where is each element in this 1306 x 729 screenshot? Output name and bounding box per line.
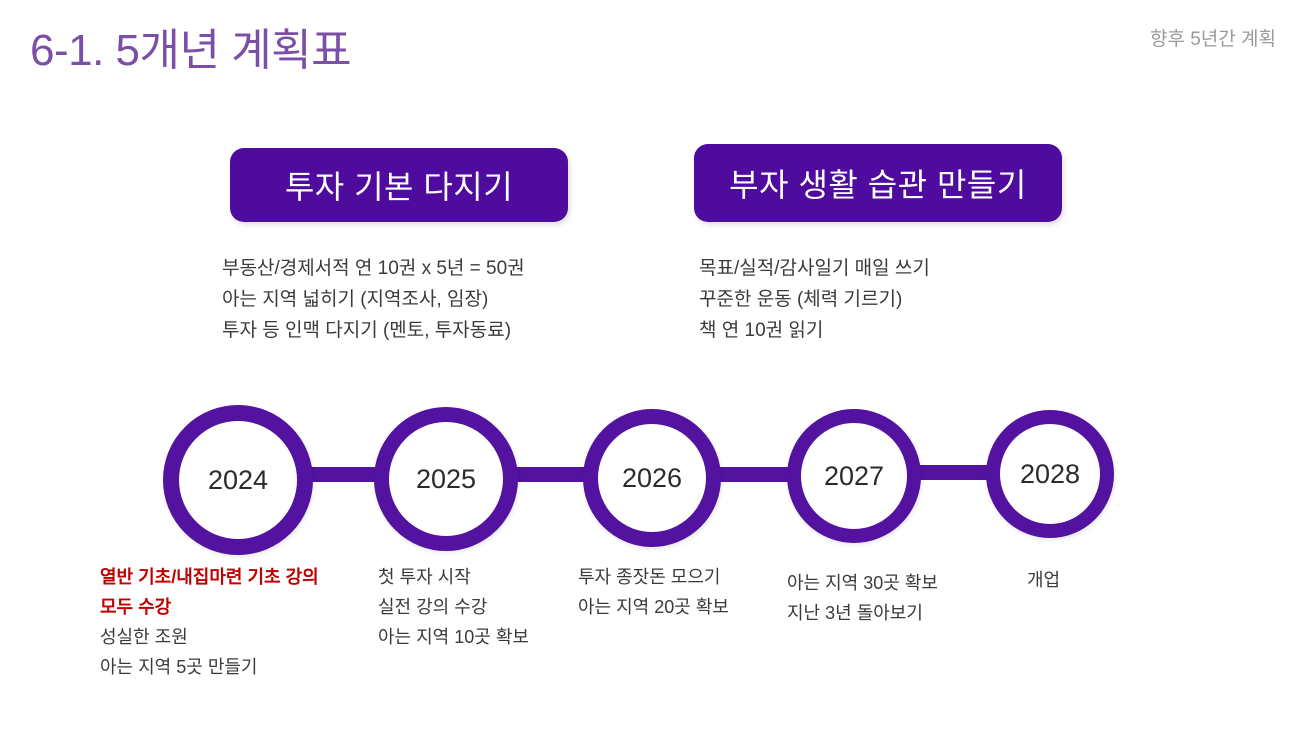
bullet-line: 아는 지역 넓히기 (지역조사, 임장) bbox=[222, 284, 525, 315]
bullet-line: 책 연 10권 읽기 bbox=[699, 315, 930, 346]
slide-canvas: 6-1. 5개년 계획표 향후 5년간 계획 투자 기본 다지기 부자 생활 습… bbox=[0, 0, 1306, 729]
section-heading-pill-1: 투자 기본 다지기 bbox=[230, 148, 568, 222]
caption-line: 지난 3년 돌아보기 bbox=[787, 598, 938, 628]
caption-line: 개업 bbox=[1027, 565, 1060, 595]
caption-line: 성실한 조원 bbox=[100, 622, 319, 652]
timeline-node-year: 2027 bbox=[824, 461, 884, 492]
bullet-line: 투자 등 인맥 다지기 (멘토, 투자동료) bbox=[222, 315, 525, 346]
bullet-line: 목표/실적/감사일기 매일 쓰기 bbox=[699, 253, 930, 284]
caption-highlight-line: 열반 기초/내집마련 기초 강의 bbox=[100, 562, 319, 592]
caption-highlight-line: 모두 수강 bbox=[100, 592, 319, 622]
caption-line: 투자 종잣돈 모으기 bbox=[578, 562, 729, 592]
timeline-caption-2027: 아는 지역 30곳 확보 지난 3년 돌아보기 bbox=[787, 568, 938, 628]
section-heading-pill-2: 부자 생활 습관 만들기 bbox=[694, 144, 1062, 222]
timeline-node-2024[interactable]: 2024 bbox=[163, 405, 313, 555]
timeline-node-2025[interactable]: 2025 bbox=[374, 407, 518, 551]
timeline: 2024 2025 2026 2027 2028 bbox=[0, 395, 1306, 565]
timeline-caption-2025: 첫 투자 시작 실전 강의 수강 아는 지역 10곳 확보 bbox=[378, 562, 529, 652]
header-note: 향후 5년간 계획 bbox=[1150, 24, 1276, 51]
timeline-caption-2026: 투자 종잣돈 모으기 아는 지역 20곳 확보 bbox=[578, 562, 729, 622]
caption-line: 아는 지역 20곳 확보 bbox=[578, 592, 729, 622]
timeline-node-year: 2024 bbox=[208, 465, 268, 496]
section-bullets-1: 부동산/경제서적 연 10권 x 5년 = 50권 아는 지역 넓히기 (지역조… bbox=[222, 253, 525, 346]
timeline-node-year: 2025 bbox=[416, 464, 476, 495]
timeline-caption-2028: 개업 bbox=[1027, 565, 1060, 595]
caption-line: 아는 지역 10곳 확보 bbox=[378, 622, 529, 652]
caption-line: 아는 지역 30곳 확보 bbox=[787, 568, 938, 598]
caption-line: 첫 투자 시작 bbox=[378, 562, 529, 592]
timeline-node-year: 2028 bbox=[1020, 459, 1080, 490]
section-bullets-2: 목표/실적/감사일기 매일 쓰기 꾸준한 운동 (체력 기르기) 책 연 10권… bbox=[699, 253, 930, 346]
timeline-node-year: 2026 bbox=[622, 463, 682, 494]
timeline-node-2028[interactable]: 2028 bbox=[986, 410, 1114, 538]
timeline-node-2026[interactable]: 2026 bbox=[583, 409, 721, 547]
caption-line: 아는 지역 5곳 만들기 bbox=[100, 652, 319, 682]
timeline-node-2027[interactable]: 2027 bbox=[787, 409, 921, 543]
caption-line: 실전 강의 수강 bbox=[378, 592, 529, 622]
timeline-caption-2024: 열반 기초/내집마련 기초 강의 모두 수강 성실한 조원 아는 지역 5곳 만… bbox=[100, 562, 319, 682]
bullet-line: 부동산/경제서적 연 10권 x 5년 = 50권 bbox=[222, 253, 525, 284]
bullet-line: 꾸준한 운동 (체력 기르기) bbox=[699, 284, 930, 315]
page-title: 6-1. 5개년 계획표 bbox=[30, 14, 351, 78]
